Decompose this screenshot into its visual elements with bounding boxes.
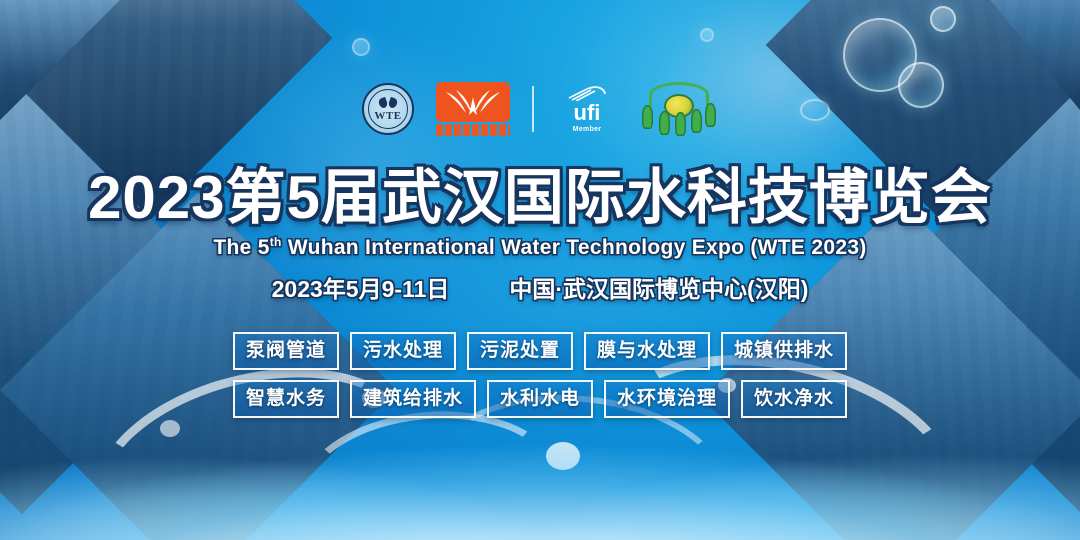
tag-drinking-water-purification[interactable]: 饮水净水 xyxy=(741,380,847,418)
association-logo-mark xyxy=(436,82,510,122)
ufi-logo-text: ufi xyxy=(574,102,601,124)
tag-water-environment-governance[interactable]: 水环境治理 xyxy=(604,380,730,418)
event-date: 2023年5月9-11日 xyxy=(272,278,450,301)
water-drop-icon xyxy=(364,97,412,109)
drop-shape xyxy=(378,97,389,109)
ufi-logo: ufi Member xyxy=(556,82,618,136)
expo-poster-banner: WTE xyxy=(0,0,1080,540)
green-person-icon xyxy=(691,109,702,133)
tag-row-1: 泵阀管道 污水处理 污泥处置 膜与水处理 城镇供排水 xyxy=(233,332,847,370)
tag-sewage-treatment[interactable]: 污水处理 xyxy=(350,332,456,370)
tag-building-plumbing[interactable]: 建筑给排水 xyxy=(350,380,476,418)
green-person-icon xyxy=(642,105,653,129)
green-person-icon xyxy=(675,112,686,136)
tag-smart-water[interactable]: 智慧水务 xyxy=(233,380,339,418)
page-title: 2023第5届武汉国际水科技博览会 xyxy=(0,168,1080,228)
subtitle-pre: The 5 xyxy=(213,236,269,259)
event-meta: 2023年5月9-11日 中国·武汉国际博览中心(汉阳) xyxy=(0,278,1080,301)
logo-row: WTE xyxy=(0,78,1080,140)
tag-water-conservancy-hydropower[interactable]: 水利水电 xyxy=(487,380,593,418)
wte-logo: WTE xyxy=(362,83,414,135)
association-logo-chinese-text xyxy=(436,124,510,136)
tag-membrane-water-treatment[interactable]: 膜与水处理 xyxy=(584,332,710,370)
ufi-member-label: Member xyxy=(573,126,602,133)
poster-content: WTE xyxy=(0,0,1080,540)
association-logo xyxy=(436,82,510,136)
tag-pump-valve-pipeline[interactable]: 泵阀管道 xyxy=(233,332,339,370)
green-organization-logo xyxy=(640,81,718,137)
logo-divider xyxy=(532,86,534,132)
wte-logo-text: WTE xyxy=(364,111,412,122)
subtitle-ordinal: th xyxy=(270,235,282,249)
category-tags: 泵阀管道 污水处理 污泥处置 膜与水处理 城镇供排水 智慧水务 建筑给排水 水利… xyxy=(0,332,1080,418)
tag-urban-water-supply-drainage[interactable]: 城镇供排水 xyxy=(721,332,847,370)
wing-icon xyxy=(444,89,502,117)
tag-row-2: 智慧水务 建筑给排水 水利水电 水环境治理 饮水净水 xyxy=(233,380,847,418)
page-subtitle: The 5th Wuhan International Water Techno… xyxy=(0,236,1080,258)
green-person-icon xyxy=(659,111,670,135)
green-person-icon xyxy=(705,103,716,127)
subtitle-post: Wuhan International Water Technology Exp… xyxy=(282,236,867,259)
ufi-swoosh-icon xyxy=(567,85,607,101)
drop-shape xyxy=(388,97,399,109)
tag-sludge-disposal[interactable]: 污泥处置 xyxy=(467,332,573,370)
event-venue: 中国·武汉国际博览中心(汉阳) xyxy=(509,278,808,301)
